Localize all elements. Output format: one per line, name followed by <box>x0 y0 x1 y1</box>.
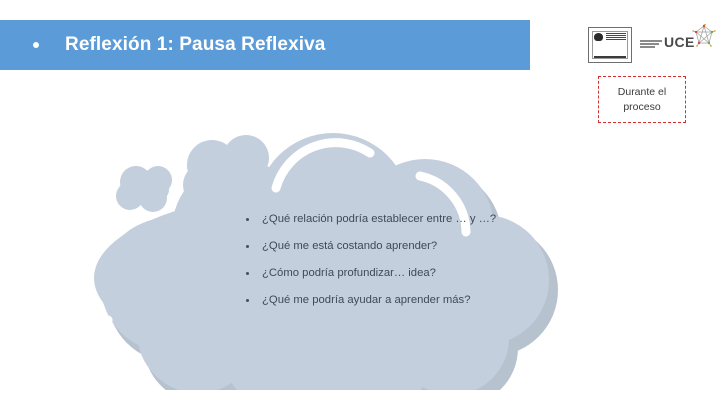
ministry-document-logo <box>588 27 632 63</box>
list-item: ¿Qué relación podría establecer entre … … <box>246 212 546 226</box>
document-footer-rule <box>594 56 626 58</box>
process-stage-badge: Durante el proceso <box>598 76 686 123</box>
list-item: ¿Cómo podría profundizar… idea? <box>246 266 546 280</box>
logo-group: UCE <box>588 24 714 66</box>
trailing-cloud-small <box>116 166 172 212</box>
uce-wordmark: UCE <box>664 34 695 50</box>
reflection-question-1: ¿Qué relación podría establecer entre … … <box>262 212 496 226</box>
bullet-icon <box>246 218 249 221</box>
page-title: Reflexión 1: Pausa Reflexiva <box>65 34 325 56</box>
ministry-wordmark <box>640 40 662 50</box>
reflection-question-4: ¿Qué me podría ayudar a aprender más? <box>262 293 470 307</box>
slide-canvas: Reflexión 1: Pausa Reflexiva UCE <box>0 0 720 405</box>
slide-title-bar: Reflexión 1: Pausa Reflexiva <box>0 20 530 70</box>
document-text-lines <box>606 33 626 41</box>
process-stage-line2: proceso <box>623 101 660 113</box>
reflection-question-2: ¿Qué me está costando aprender? <box>262 239 437 253</box>
list-item: ¿Qué me podría ayudar a aprender más? <box>246 293 546 307</box>
trailing-cloud-medium <box>183 135 269 211</box>
process-stage-label: Durante el proceso <box>618 85 666 115</box>
reflection-question-3: ¿Cómo podría profundizar… idea? <box>262 266 436 280</box>
shield-emblem-icon <box>594 33 603 41</box>
uce-star-network-logo <box>692 24 716 50</box>
bullet-icon <box>246 272 249 275</box>
list-item: ¿Qué me está costando aprender? <box>246 239 546 253</box>
process-stage-line1: Durante el <box>618 86 666 98</box>
bullet-icon <box>246 245 249 248</box>
title-bullet-icon <box>33 42 39 48</box>
bullet-icon <box>246 299 249 302</box>
reflection-question-list: ¿Qué relación podría establecer entre … … <box>246 212 546 307</box>
